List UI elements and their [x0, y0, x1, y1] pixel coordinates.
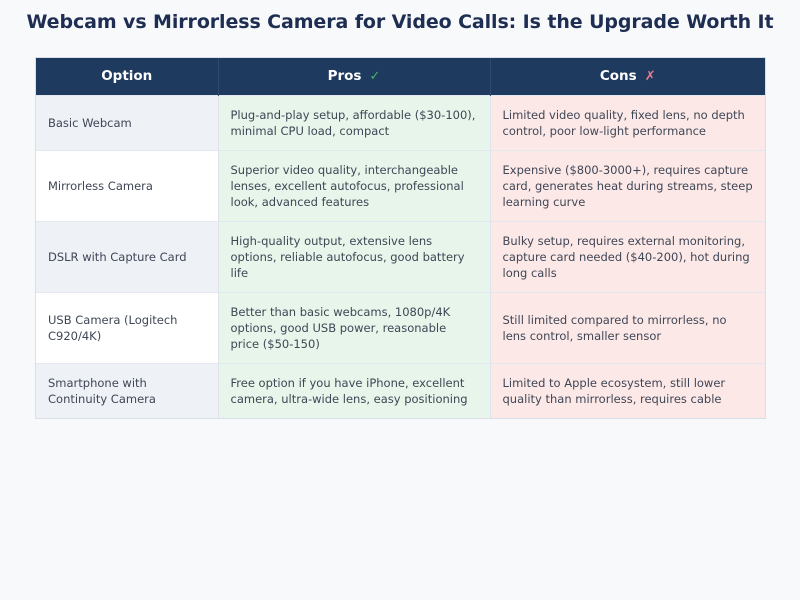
check-icon: ✓	[369, 69, 380, 84]
cell-pros: High-quality output, extensive lens opti…	[218, 221, 490, 292]
cell-pros: Free option if you have iPhone, excellen…	[218, 363, 490, 418]
column-header-cons-label: Cons	[600, 68, 637, 84]
page-root: Webcam vs Mirrorless Camera for Video Ca…	[0, 0, 800, 600]
cell-cons: Bulky setup, requires external monitorin…	[490, 221, 765, 292]
cell-option: Mirrorless Camera	[36, 150, 218, 221]
page-title: Webcam vs Mirrorless Camera for Video Ca…	[0, 10, 800, 34]
column-header-pros-label: Pros	[328, 68, 362, 84]
cell-cons: Expensive ($800-3000+), requires capture…	[490, 150, 765, 221]
cell-option: Basic Webcam	[36, 95, 218, 150]
cell-pros: Plug-and-play setup, affordable ($30-100…	[218, 95, 490, 150]
table-header: Option Pros ✓ Cons ✗	[36, 58, 765, 95]
table-row: USB Camera (Logitech C920/4K) Better tha…	[36, 292, 765, 363]
cell-cons: Still limited compared to mirrorless, no…	[490, 292, 765, 363]
cell-pros: Superior video quality, interchangeable …	[218, 150, 490, 221]
cell-pros: Better than basic webcams, 1080p/4K opti…	[218, 292, 490, 363]
table-body: Basic Webcam Plug-and-play setup, afford…	[36, 95, 765, 418]
comparison-table: Option Pros ✓ Cons ✗	[36, 58, 765, 418]
column-header-option[interactable]: Option	[36, 58, 218, 95]
cell-option: DSLR with Capture Card	[36, 221, 218, 292]
table-header-row: Option Pros ✓ Cons ✗	[36, 58, 765, 95]
column-header-cons[interactable]: Cons ✗	[490, 58, 765, 95]
table-row: Basic Webcam Plug-and-play setup, afford…	[36, 95, 765, 150]
comparison-table-container: Option Pros ✓ Cons ✗	[36, 58, 765, 418]
column-header-pros[interactable]: Pros ✓	[218, 58, 490, 95]
table-row: Mirrorless Camera Superior video quality…	[36, 150, 765, 221]
cell-cons: Limited video quality, fixed lens, no de…	[490, 95, 765, 150]
cell-cons: Limited to Apple ecosystem, still lower …	[490, 363, 765, 418]
column-header-option-label: Option	[101, 68, 152, 84]
cross-icon: ✗	[645, 69, 656, 84]
cell-option: USB Camera (Logitech C920/4K)	[36, 292, 218, 363]
cell-option: Smartphone with Continuity Camera	[36, 363, 218, 418]
table-row: Smartphone with Continuity Camera Free o…	[36, 363, 765, 418]
table-row: DSLR with Capture Card High-quality outp…	[36, 221, 765, 292]
